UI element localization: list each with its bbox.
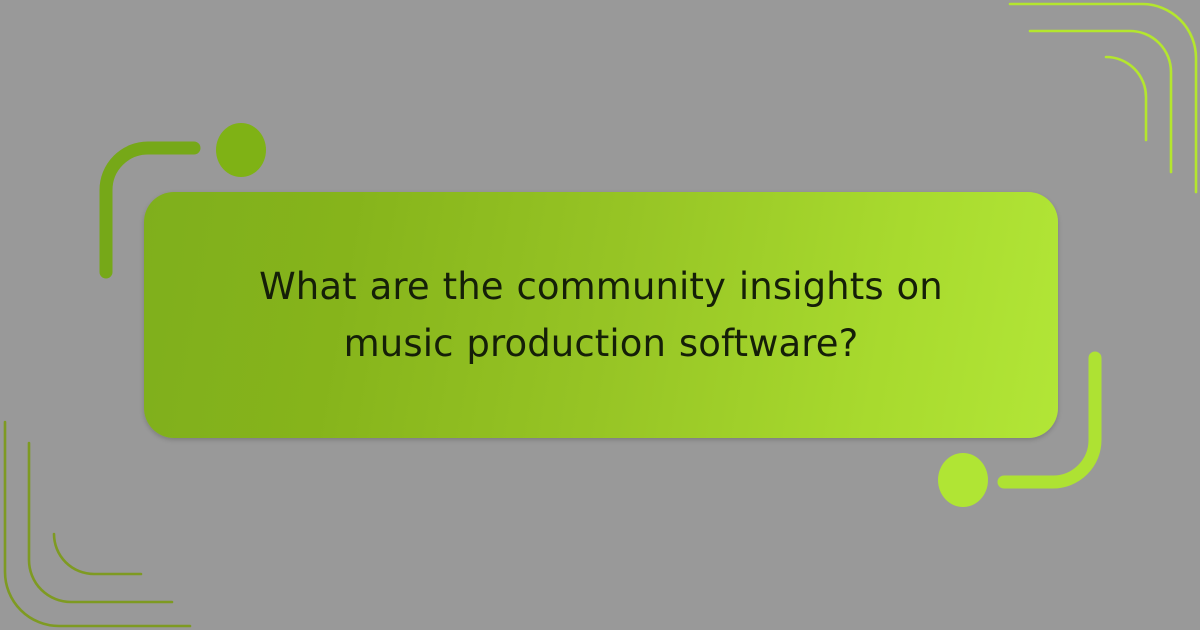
corner-arc-middle xyxy=(29,443,172,602)
accent-dot-icon xyxy=(938,453,988,507)
question-text: What are the community insights on music… xyxy=(236,258,966,372)
corner-arc-outer xyxy=(5,422,190,626)
social-card-canvas: What are the community insights on music… xyxy=(0,0,1200,630)
corner-arc-inner xyxy=(1106,57,1146,140)
corner-arc-inner xyxy=(54,534,141,574)
question-card: What are the community insights on music… xyxy=(144,192,1058,438)
corner-arc-middle xyxy=(1030,31,1171,172)
accent-dot-icon xyxy=(216,123,266,177)
corner-arc-outer xyxy=(1010,4,1196,192)
